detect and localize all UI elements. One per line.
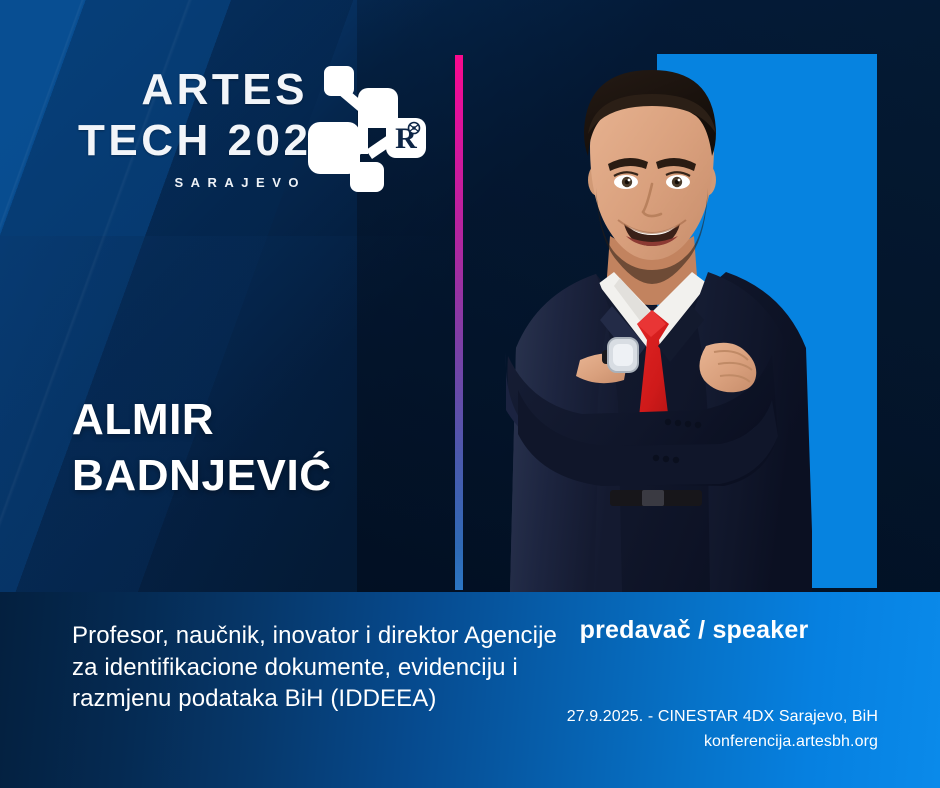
speaker-bio: Profesor, naučnik, inovator i direktor A… — [72, 620, 572, 715]
event-meta: 27.9.2025. - CINESTAR 4DX Sarajevo, BiH … — [518, 705, 878, 755]
speaker-role-label: predavač / speaker — [518, 616, 878, 645]
brand-logo-line-artes: ARTES — [78, 68, 308, 112]
brand-logo-subtitle-sarajevo: SARAJEVO — [78, 175, 308, 190]
r-monogram-icon: R — [388, 120, 424, 156]
brand-logo-wordmark: ARTES TECH 2025 SARAJEVO — [78, 68, 308, 190]
event-date-venue: 27.9.2025. - CINESTAR 4DX Sarajevo, BiH — [518, 705, 878, 730]
speaker-last-name: BADNJEVIĆ — [72, 448, 452, 504]
speaker-portrait-illustration — [492, 60, 812, 592]
network-node-icon: R — [306, 62, 428, 194]
brand-logo: ARTES TECH 2025 SARAJEVO — [78, 62, 428, 194]
speaker-photo-panel — [462, 0, 940, 592]
event-website[interactable]: konferencija.artesbh.org — [518, 730, 878, 755]
footer-left-column: Profesor, naučnik, inovator i direktor A… — [72, 620, 572, 715]
footer-band: Profesor, naučnik, inovator i direktor A… — [0, 592, 940, 788]
brand-logo-line-tech-2025: TECH 2025 — [78, 119, 308, 163]
speaker-card: ARTES TECH 2025 SARAJEVO — [0, 0, 940, 788]
footer-right-column: predavač / speaker 27.9.2025. - CINESTAR… — [518, 616, 878, 755]
speaker-portrait — [492, 60, 812, 592]
speaker-name: ALMIR BADNJEVIĆ — [72, 392, 452, 505]
speaker-first-name: ALMIR — [72, 392, 452, 448]
